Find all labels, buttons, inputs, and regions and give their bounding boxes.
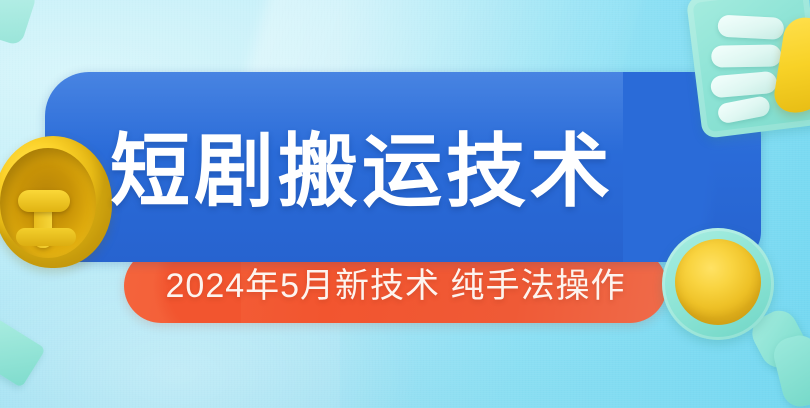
magnifier-lens [675, 239, 761, 325]
finger-shape [717, 15, 784, 40]
bell-clapper [18, 190, 70, 212]
poster-canvas: 短剧搬运技术 2024年5月新技术 纯手法操作 [0, 0, 810, 408]
magnifier-ring [662, 228, 774, 340]
bell-arm [16, 228, 76, 246]
page-subtitle: 2024年5月新技术 纯手法操作 [124, 262, 667, 310]
bell-icon [0, 136, 112, 268]
finger-shape [711, 44, 781, 67]
hand-sheet-icon [686, 0, 810, 139]
page-title: 短剧搬运技术 [110, 126, 710, 218]
